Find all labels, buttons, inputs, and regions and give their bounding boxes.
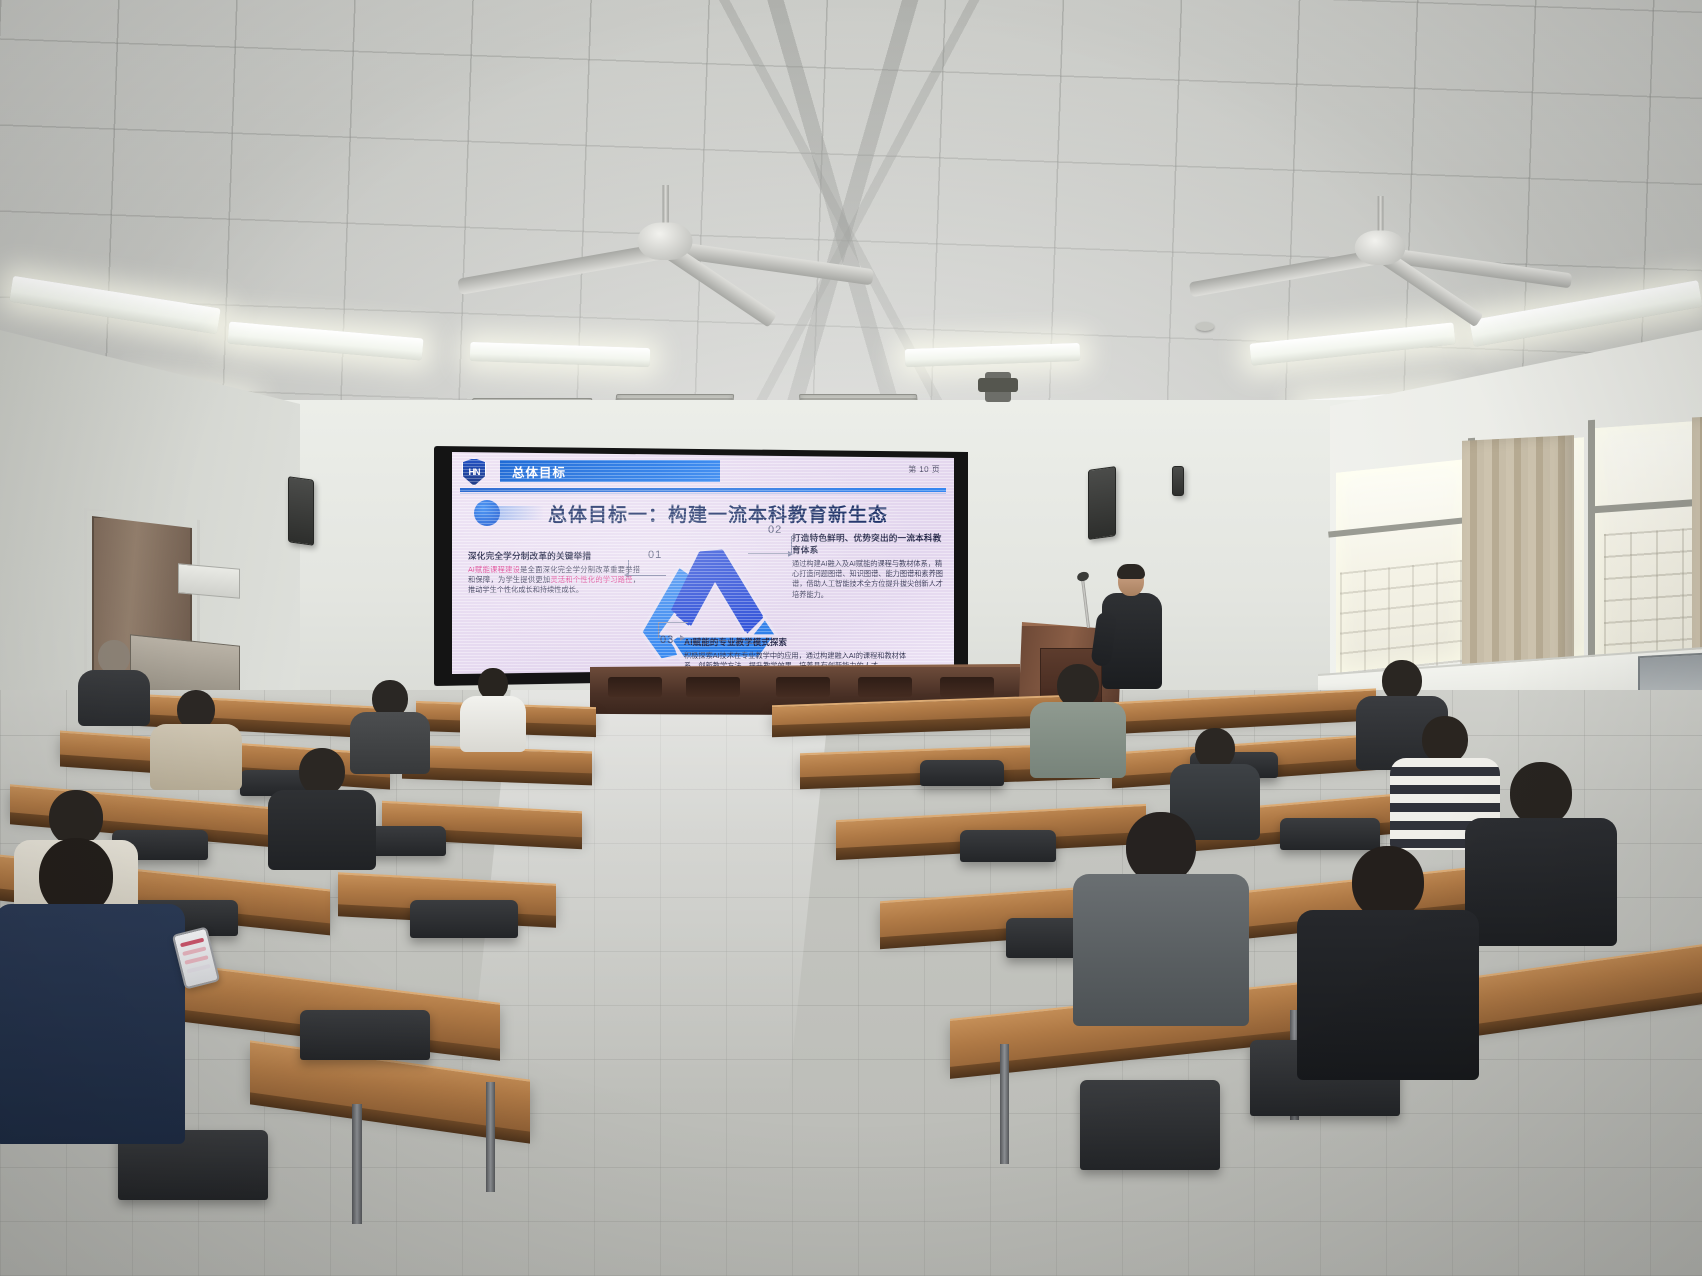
- connector-line-02: [748, 536, 792, 554]
- fan-rod: [663, 185, 669, 228]
- block-02-heading: 打造特色鲜明、优势突出的一流本科教育体系: [792, 532, 944, 556]
- wall-speaker-left: [288, 476, 314, 546]
- student-torso: [1297, 910, 1479, 1080]
- slide-block-02: 打造特色鲜明、优势突出的一流本科教育体系 通过构建AI融入及AI赋能的课程与教材…: [792, 532, 944, 600]
- student-head: [98, 640, 130, 674]
- university-logo-icon: HN: [462, 458, 486, 486]
- window-mullion-vertical: [1588, 420, 1595, 670]
- student: [268, 748, 376, 866]
- desk-panel: [686, 677, 740, 697]
- student-torso: [78, 670, 150, 726]
- student: [78, 640, 150, 722]
- slide-main-title: 总体目标一：构建一流本科教育新生态: [548, 500, 888, 527]
- student-torso: [1073, 874, 1249, 1026]
- desk-panel: [940, 677, 994, 697]
- chair: [300, 1010, 430, 1060]
- student-torso: [460, 696, 526, 752]
- student-torso: [268, 790, 376, 870]
- chair: [410, 900, 518, 938]
- student: [1300, 846, 1476, 1076]
- desk-leg: [352, 1104, 362, 1224]
- presenter-hair: [1117, 564, 1145, 579]
- fan-hub: [1355, 231, 1406, 266]
- student-torso: [1465, 818, 1617, 946]
- slide-block-01: 深化完全学分制改革的关键举措 AI赋能课程建设是全面深化完全学分制改革重要举措和…: [468, 550, 640, 596]
- chair: [960, 830, 1056, 862]
- smoke-detector: [1196, 322, 1214, 331]
- slide-section-tag: 总体目标: [500, 460, 720, 482]
- chair: [1080, 1080, 1220, 1170]
- fan-hub: [638, 223, 693, 261]
- block-03-heading: AI赋能的专业教学模式探索: [684, 636, 914, 648]
- student-head: [1422, 716, 1468, 764]
- block-01-body: AI赋能课程建设是全面深化完全学分制改革重要举措和保障，为学生提供更加灵活和个性…: [468, 565, 640, 596]
- desk-leg: [486, 1082, 495, 1192]
- student: [1076, 812, 1246, 1022]
- block-01-heading: 深化完全学分制改革的关键举措: [468, 550, 640, 562]
- block-02-body: 通过构建AI融入及AI赋能的课程与教材体系，精心打造问题图谱、知识图谱、能力图谱…: [792, 559, 944, 600]
- student-head: [1352, 846, 1424, 920]
- slide-section-tag-label: 总体目标: [512, 462, 566, 481]
- desk-panel: [776, 677, 830, 697]
- chair: [920, 760, 1004, 786]
- student: [1466, 762, 1616, 942]
- student-head: [1510, 762, 1572, 826]
- window-curtain-2[interactable]: [1692, 415, 1702, 686]
- desk-panel: [608, 677, 662, 697]
- block-01-highlight-b: 灵活和个性化的学习路径: [550, 575, 632, 584]
- student: [150, 690, 242, 786]
- fan-rod: [1378, 196, 1384, 235]
- title-bullet-dot: [474, 500, 500, 526]
- presentation-slide[interactable]: HN 总体目标 第 10 页 总体目标一：构建一流本科教育新生态 01: [452, 452, 954, 674]
- classroom-scene: HN 总体目标 第 10 页 总体目标一：构建一流本科教育新生态 01: [0, 0, 1702, 1276]
- slide-header-rule: [460, 488, 946, 492]
- student-head: [299, 748, 345, 796]
- student-torso: [150, 724, 242, 790]
- block-01-highlight-a: AI赋能课程建设: [468, 565, 520, 574]
- window-curtain-1[interactable]: [1462, 435, 1574, 681]
- desk-panel: [858, 677, 912, 697]
- student: [0, 838, 180, 1138]
- wall-control-panel[interactable]: [178, 563, 240, 598]
- wall-speaker-small: [1172, 466, 1184, 496]
- slide-header-rule-thin: [460, 493, 946, 494]
- slide-number-02: 02: [768, 524, 782, 536]
- desk-leg: [1000, 1044, 1009, 1164]
- slide-page-number: 第 10 页: [908, 464, 940, 475]
- student: [1030, 664, 1126, 772]
- student-torso: [0, 904, 185, 1144]
- student-torso: [1030, 702, 1126, 778]
- student: [460, 668, 526, 748]
- projector-mount: [985, 372, 1011, 402]
- logo-text: HN: [469, 467, 480, 477]
- wall-speaker-right: [1088, 466, 1116, 540]
- title-accent-gradient: [496, 506, 544, 520]
